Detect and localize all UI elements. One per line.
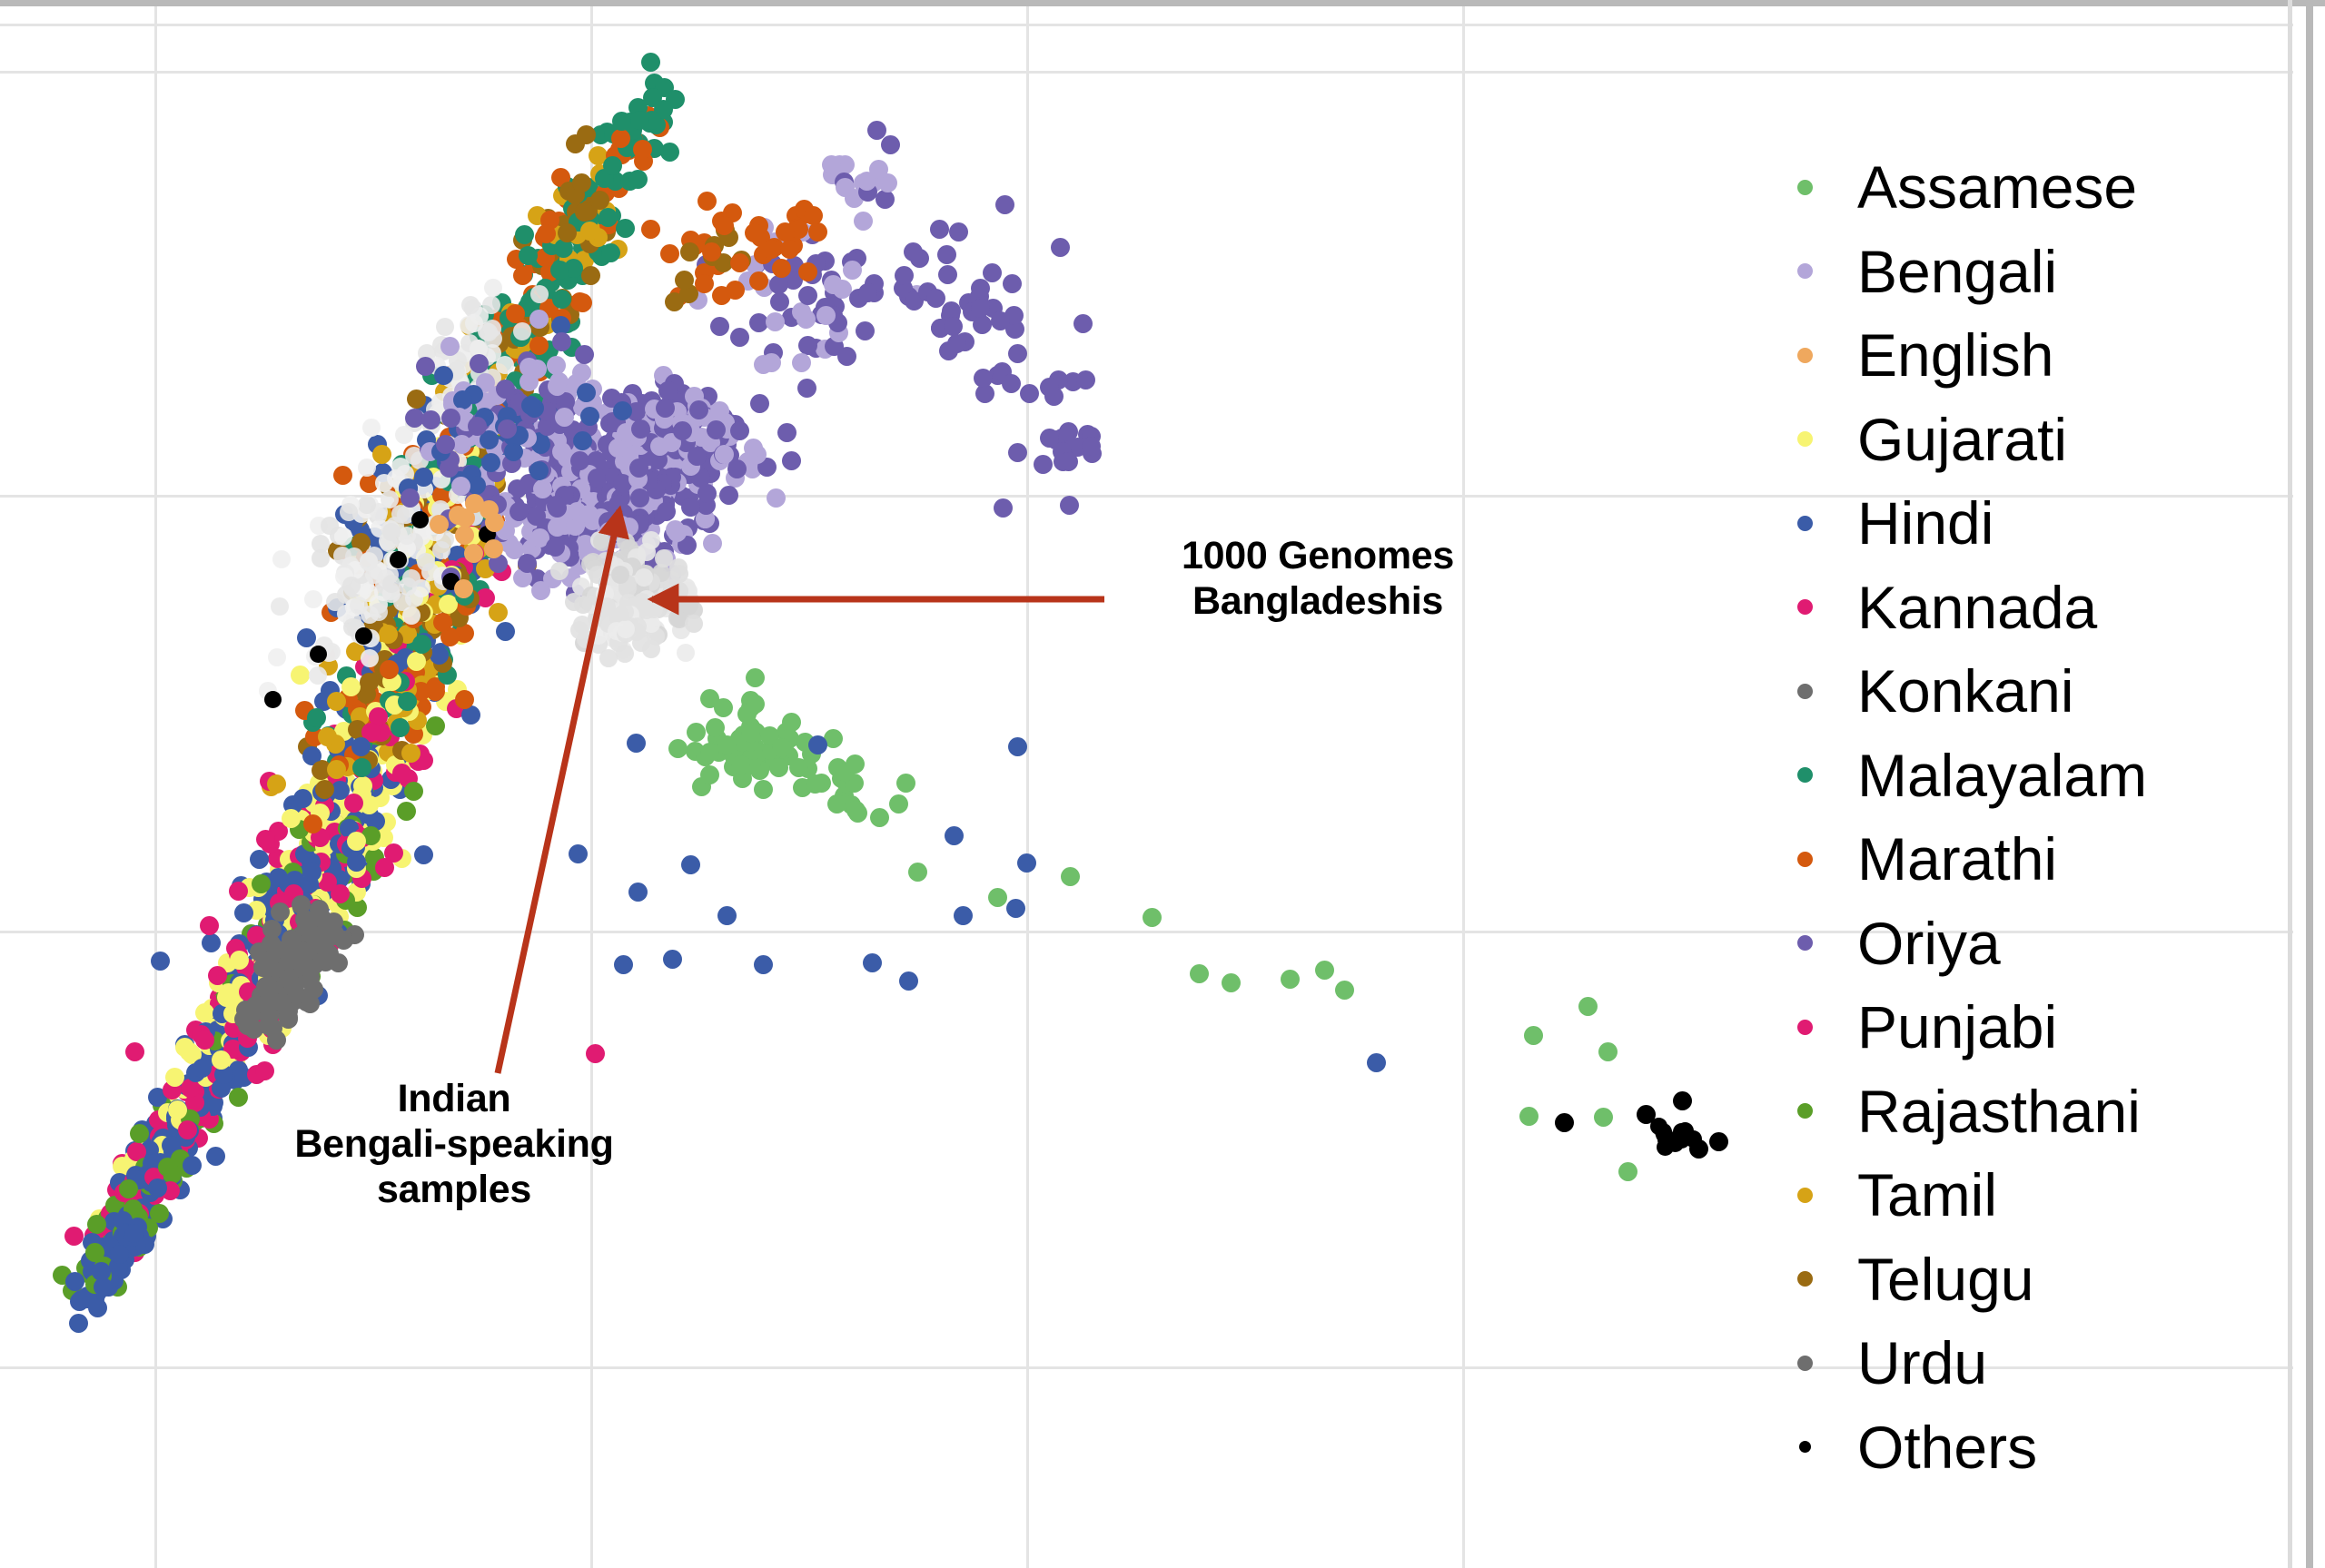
scatter-point <box>470 354 489 373</box>
scatter-point <box>264 691 282 708</box>
scatter-point <box>1367 1053 1386 1072</box>
scatter-point <box>804 206 823 225</box>
scatter-point <box>746 695 765 714</box>
scatter-point <box>603 156 622 175</box>
legend-label: English <box>1857 325 2053 385</box>
scatter-point <box>611 129 630 148</box>
legend-item-bengali[interactable]: Bengali <box>1753 230 2298 314</box>
scatter-point <box>430 646 449 665</box>
scatter-point <box>547 496 566 515</box>
scatter-point <box>358 496 376 514</box>
scatter-point <box>731 755 750 774</box>
scatter-point <box>1524 1026 1543 1045</box>
legend-swatch-cell <box>1753 516 1857 531</box>
scatter-point <box>1040 378 1059 397</box>
scatter-point <box>798 286 817 305</box>
legend-item-marathi[interactable]: Marathi <box>1753 817 2298 902</box>
legend-dot-icon <box>1797 431 1813 447</box>
scatter-point <box>1689 1139 1708 1159</box>
scatter-point <box>988 888 1007 907</box>
scatter-point <box>355 627 372 645</box>
legend-label: Others <box>1857 1417 2037 1477</box>
scatter-point <box>899 971 918 991</box>
scatter-point <box>382 523 401 541</box>
scatter-point <box>379 625 398 644</box>
scatter-point <box>440 337 460 356</box>
scatter-point <box>307 708 326 727</box>
scatter-point <box>411 511 429 528</box>
plot-frame-right-outer-border <box>2306 0 2313 1568</box>
scatter-point <box>303 814 322 833</box>
scatter-point <box>513 322 531 340</box>
scatter-point <box>573 293 592 312</box>
scatter-point <box>889 794 908 814</box>
legend-swatch-cell <box>1753 852 1857 867</box>
scatter-point <box>1017 853 1036 873</box>
scatter-point <box>1073 314 1093 333</box>
scatter-point <box>707 420 726 439</box>
scatter-point <box>436 318 454 336</box>
scatter-point <box>601 243 620 262</box>
legend-swatch-cell <box>1753 767 1857 783</box>
legend-swatch-cell <box>1753 684 1857 699</box>
scatter-point <box>421 410 440 429</box>
scatter-point <box>745 223 764 242</box>
scatter-point <box>321 517 339 535</box>
scatter-point <box>616 219 635 238</box>
legend-dot-icon <box>1797 1356 1813 1371</box>
scatter-point <box>455 526 474 545</box>
scatter-point <box>252 874 271 893</box>
scatter-point <box>586 1044 605 1063</box>
legend-label: Assamese <box>1857 157 2137 217</box>
scatter-point <box>1060 496 1079 515</box>
scatter-point <box>697 192 717 211</box>
scatter-point <box>548 518 567 537</box>
scatter-point <box>1008 737 1027 756</box>
scatter-point <box>329 953 348 972</box>
scatter-point <box>930 220 949 239</box>
scatter-point <box>575 202 594 222</box>
scatter-point <box>580 222 599 241</box>
legend-label: Gujarati <box>1857 409 2067 469</box>
scatter-point <box>452 435 471 454</box>
scatter-point <box>168 1100 187 1119</box>
scatter-point <box>857 172 876 191</box>
legend-item-gujarati[interactable]: Gujarati <box>1753 398 2298 482</box>
scatter-point <box>573 616 591 634</box>
legend-swatch-cell <box>1753 599 1857 615</box>
scatter-point <box>302 863 322 882</box>
scatter-point <box>555 408 574 427</box>
scatter-point <box>630 111 649 130</box>
scatter-point <box>398 692 417 711</box>
scatter-point <box>1519 1107 1538 1126</box>
scatter-point <box>687 723 706 742</box>
scatter-point <box>125 1042 144 1061</box>
legend-item-oriya[interactable]: Oriya <box>1753 902 2298 986</box>
scatter-point <box>1578 997 1598 1016</box>
scatter-point <box>717 906 737 925</box>
scatter-point <box>730 421 749 440</box>
legend-dot-icon <box>1797 180 1813 195</box>
scatter-point <box>342 577 361 595</box>
scatter-point <box>529 310 549 329</box>
scatter-point <box>460 316 478 334</box>
legend-dot-icon <box>1797 767 1813 783</box>
scatter-point <box>412 635 431 654</box>
legend-swatch-cell <box>1753 1020 1857 1035</box>
scatter-point <box>712 286 731 305</box>
scatter-point <box>513 266 532 285</box>
scatter-point <box>1190 964 1209 983</box>
legend-label: Kannada <box>1857 577 2097 637</box>
scatter-point <box>530 285 549 303</box>
scatter-point <box>777 423 796 442</box>
scatter-point <box>263 1019 282 1038</box>
legend-item-tamil[interactable]: Tamil <box>1753 1153 2298 1238</box>
legend: AssameseBengaliEnglishGujaratiHindiKanna… <box>1753 145 2298 1489</box>
scatter-point <box>297 918 316 937</box>
scatter-point <box>1143 908 1162 927</box>
scatter-point <box>148 1178 167 1198</box>
legend-dot-icon <box>1797 1020 1813 1035</box>
scatter-point <box>456 508 475 528</box>
scatter-point <box>1657 1130 1677 1149</box>
scatter-point <box>908 863 927 882</box>
scatter-point <box>772 259 791 278</box>
scatter-point <box>808 222 827 242</box>
legend-swatch-cell <box>1753 348 1857 363</box>
scatter-point <box>616 603 634 621</box>
scatter-point <box>581 266 600 285</box>
scatter-point <box>433 613 452 632</box>
scatter-point <box>1059 452 1078 471</box>
scatter-point <box>291 666 310 685</box>
legend-swatch-cell <box>1753 180 1857 195</box>
scatter-point <box>519 358 539 377</box>
legend-dot-icon <box>1797 516 1813 531</box>
scatter-point <box>994 498 1013 518</box>
legend-item-rajasthani[interactable]: Rajasthani <box>1753 1070 2298 1154</box>
scatter-point <box>1051 238 1070 257</box>
scatter-point <box>700 689 719 708</box>
scatter-point <box>642 531 660 549</box>
scatter-point <box>854 212 873 231</box>
scatter-point <box>995 195 1014 214</box>
scatter-point <box>318 727 337 746</box>
scatter-point <box>870 808 889 827</box>
scatter-point <box>613 401 632 420</box>
scatter-point <box>746 668 765 687</box>
scatter-point <box>1008 443 1027 462</box>
scatter-point <box>92 1262 111 1281</box>
scatter-point <box>550 261 569 280</box>
scatter-point <box>229 882 248 901</box>
scatter-point <box>362 419 381 437</box>
scatter-point <box>395 426 413 444</box>
scatter-point <box>1008 344 1027 363</box>
scatter-point <box>706 718 725 737</box>
legend-swatch-cell <box>1753 935 1857 951</box>
scatter-point <box>569 844 588 863</box>
scatter-point <box>668 523 687 542</box>
scatter-point <box>1637 1105 1656 1124</box>
scatter-point <box>193 1059 212 1078</box>
scatter-point <box>401 488 420 508</box>
scatter-point <box>69 1314 88 1333</box>
scatter-point <box>573 431 592 450</box>
legend-label: Tamil <box>1857 1165 1997 1225</box>
scatter-point <box>230 951 249 970</box>
legend-label: Malayalam <box>1857 745 2147 805</box>
scatter-point <box>272 550 291 568</box>
scatter-point <box>700 765 719 784</box>
scatter-point <box>1673 1091 1692 1110</box>
scatter-point <box>165 1068 184 1087</box>
scatter-point <box>398 527 416 545</box>
scatter-point <box>580 407 599 426</box>
scatter-point <box>334 931 353 950</box>
scatter-point <box>312 936 331 955</box>
legend-dot-icon <box>1797 599 1813 615</box>
scatter-point <box>375 858 394 877</box>
scatter-point <box>402 606 420 625</box>
scatter-point <box>253 958 272 977</box>
scatter-point <box>1059 422 1078 441</box>
scatter-point <box>926 289 945 308</box>
scatter-point <box>130 1124 149 1143</box>
scatter-point <box>552 442 571 461</box>
legend-swatch-cell <box>1753 1356 1857 1371</box>
scatter-point <box>432 541 450 559</box>
scatter-point <box>657 502 676 521</box>
scatter-point <box>289 952 308 971</box>
scatter-point <box>867 121 886 140</box>
scatter-point <box>824 275 843 294</box>
scatter-point <box>358 459 376 477</box>
scatter-point <box>575 345 594 364</box>
scatter-point <box>633 140 652 159</box>
scatter-point <box>326 593 344 611</box>
scatter-point <box>846 801 866 820</box>
scatter-point <box>382 575 401 593</box>
scatter-point <box>304 590 322 608</box>
scatter-point <box>730 253 749 272</box>
annotation-indian-bengali-samples: Indian Bengali-speaking samples <box>227 1077 681 1213</box>
scatter-point <box>554 239 573 258</box>
scatter-point <box>577 383 596 402</box>
legend-item-urdu[interactable]: Urdu <box>1753 1321 2298 1405</box>
scatter-point <box>749 271 768 291</box>
scatter-point <box>710 317 729 336</box>
scatter-point <box>1594 1108 1613 1127</box>
scatter-point <box>234 1010 253 1029</box>
scatter-point <box>441 409 460 428</box>
scatter-point <box>670 565 688 583</box>
scatter-point <box>754 955 773 974</box>
legend-item-others[interactable]: Others <box>1753 1405 2298 1490</box>
scatter-point <box>822 155 841 174</box>
scatter-point <box>1003 274 1022 293</box>
scatter-point <box>675 271 694 290</box>
legend-item-kannada[interactable]: Kannada <box>1753 566 2298 650</box>
legend-label: Urdu <box>1857 1333 1987 1393</box>
scatter-point <box>680 242 699 261</box>
scatter-point <box>546 537 565 557</box>
scatter-point <box>570 451 589 470</box>
legend-label: Bengali <box>1857 242 2057 301</box>
legend-item-telugu[interactable]: Telugu <box>1753 1238 2298 1322</box>
scatter-point <box>741 724 760 743</box>
scatter-point <box>426 716 445 735</box>
scatter-point <box>341 677 361 696</box>
legend-dot-icon <box>1797 263 1813 279</box>
scatter-point <box>1335 981 1354 1000</box>
legend-item-punjabi[interactable]: Punjabi <box>1753 985 2298 1070</box>
legend-label: Punjabi <box>1857 997 2057 1057</box>
scatter-point <box>558 223 577 242</box>
scatter-point <box>954 906 973 925</box>
legend-label: Hindi <box>1857 493 1994 553</box>
legend-swatch-cell <box>1753 431 1857 447</box>
scatter-point <box>816 306 836 325</box>
scatter-point <box>572 173 591 192</box>
legend-swatch-cell <box>1753 1188 1857 1203</box>
scatter-point <box>333 466 352 485</box>
scatter-point <box>361 649 379 667</box>
legend-item-hindi[interactable]: Hindi <box>1753 481 2298 566</box>
legend-item-english[interactable]: English <box>1753 313 2298 398</box>
scatter-point <box>896 774 915 793</box>
scatter-point <box>641 53 660 72</box>
scatter-point <box>750 394 769 413</box>
scatter-point <box>496 380 515 399</box>
legend-swatch-cell <box>1753 263 1857 279</box>
scatter-point <box>611 566 629 584</box>
legend-dot-icon <box>1799 1441 1811 1453</box>
legend-dot-icon <box>1797 1188 1813 1203</box>
scatter-point <box>881 135 900 154</box>
scatter-point <box>641 220 660 239</box>
legend-dot-icon <box>1797 348 1813 363</box>
plot-frame-top-border <box>0 0 2325 6</box>
scatter-point <box>754 780 773 799</box>
scatter-point <box>856 321 875 340</box>
scatter-point <box>250 850 269 869</box>
scatter-point <box>271 597 289 616</box>
legend-dot-icon <box>1797 684 1813 699</box>
scatter-point <box>945 826 964 845</box>
scatter-point <box>629 459 648 478</box>
scatter-point <box>628 170 648 189</box>
legend-label: Telugu <box>1857 1249 2034 1309</box>
scatter-point <box>88 1298 107 1317</box>
scatter-point <box>392 764 411 783</box>
scatter-point <box>481 453 500 472</box>
scatter-point <box>455 690 474 709</box>
scatter-point <box>119 1179 138 1198</box>
scatter-point <box>1061 867 1080 886</box>
scatter-point <box>769 758 788 777</box>
scatter-point <box>256 830 275 849</box>
scatter-point <box>782 451 801 470</box>
scatter-point <box>350 597 368 615</box>
scatter-point <box>1618 1162 1637 1181</box>
scatter-point <box>863 953 882 972</box>
scatter-point <box>808 735 827 754</box>
scatter-point <box>631 419 650 439</box>
legend-label: Rajasthani <box>1857 1081 2141 1141</box>
scatter-point <box>1315 961 1334 980</box>
scatter-point <box>685 615 703 633</box>
legend-item-konkani[interactable]: Konkani <box>1753 649 2298 734</box>
scatter-point <box>681 855 700 874</box>
scatter-point <box>681 498 700 517</box>
scatter-point <box>1709 1132 1728 1151</box>
legend-item-malayalam[interactable]: Malayalam <box>1753 734 2298 818</box>
scatter-point <box>550 562 569 580</box>
scatter-point <box>680 597 698 615</box>
scatter-point <box>971 299 990 318</box>
legend-label: Marathi <box>1857 829 2057 889</box>
legend-swatch-cell <box>1753 1103 1857 1119</box>
scatter-point <box>404 782 423 801</box>
scatter-point <box>390 551 407 568</box>
scatter-point <box>496 356 514 374</box>
scatter-point <box>407 652 426 671</box>
scatter-point <box>702 242 721 261</box>
scatter-point <box>949 222 968 242</box>
scatter-point <box>267 774 286 794</box>
scatter-point <box>484 539 503 558</box>
scatter-point <box>719 486 738 505</box>
scatter-point <box>1555 1113 1574 1132</box>
legend-swatch-cell <box>1753 1271 1857 1287</box>
scatter-point <box>234 903 253 922</box>
scatter-point <box>327 760 346 779</box>
scatter-point <box>200 916 219 935</box>
scatter-point <box>858 283 877 302</box>
scatter-point <box>1082 437 1101 456</box>
scatter-point <box>496 622 515 641</box>
scatter-point <box>944 317 963 336</box>
scatter-point <box>178 1120 197 1139</box>
scatter-point <box>506 304 525 323</box>
scatter-point <box>665 292 684 311</box>
scatter-point <box>552 290 571 309</box>
scatter-point <box>397 802 416 821</box>
scatter-point <box>766 312 785 331</box>
scatter-point <box>202 933 221 952</box>
scatter-point <box>255 995 274 1014</box>
scatter-point <box>391 718 410 737</box>
scatter-point <box>489 603 508 622</box>
legend-item-assamese[interactable]: Assamese <box>1753 145 2298 230</box>
scatter-point <box>628 883 648 902</box>
legend-dot-icon <box>1797 1271 1813 1287</box>
scatter-point <box>627 734 646 753</box>
scatter-point <box>614 955 633 974</box>
scatter-point <box>846 754 865 774</box>
scatter-point <box>780 240 799 259</box>
scatter-point <box>312 549 330 567</box>
scatter-point <box>695 274 714 293</box>
scatter-point <box>206 1147 225 1166</box>
scatter-point <box>1006 899 1025 918</box>
scatter-point <box>754 355 773 374</box>
scatter-point <box>616 645 634 663</box>
